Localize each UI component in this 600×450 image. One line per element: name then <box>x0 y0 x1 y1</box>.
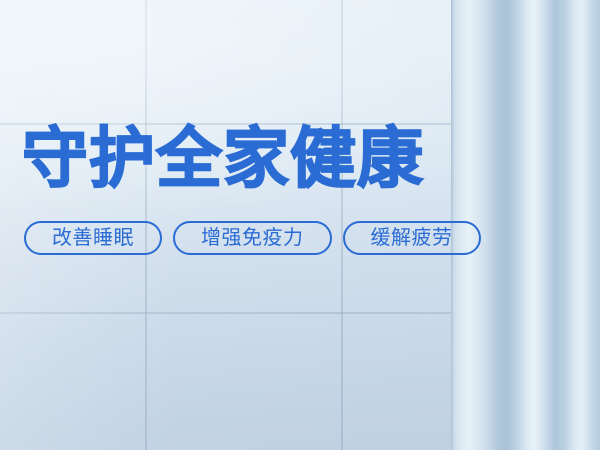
page-title: 守护全家健康 <box>22 122 424 194</box>
benefit-pill-sleep[interactable]: 改善睡眠 <box>24 221 162 255</box>
promo-banner: 守护全家健康 改善睡眠 增强免疫力 缓解疲劳 <box>0 0 600 450</box>
benefit-pill-immunity[interactable]: 增强免疫力 <box>173 221 332 255</box>
benefit-pill-label: 缓解疲劳 <box>371 228 453 248</box>
benefit-pill-fatigue[interactable]: 缓解疲劳 <box>343 221 481 255</box>
benefit-pill-row: 改善睡眠 增强免疫力 缓解疲劳 <box>24 221 481 255</box>
benefit-pill-label: 增强免疫力 <box>201 228 304 248</box>
benefit-pill-label: 改善睡眠 <box>52 228 134 248</box>
